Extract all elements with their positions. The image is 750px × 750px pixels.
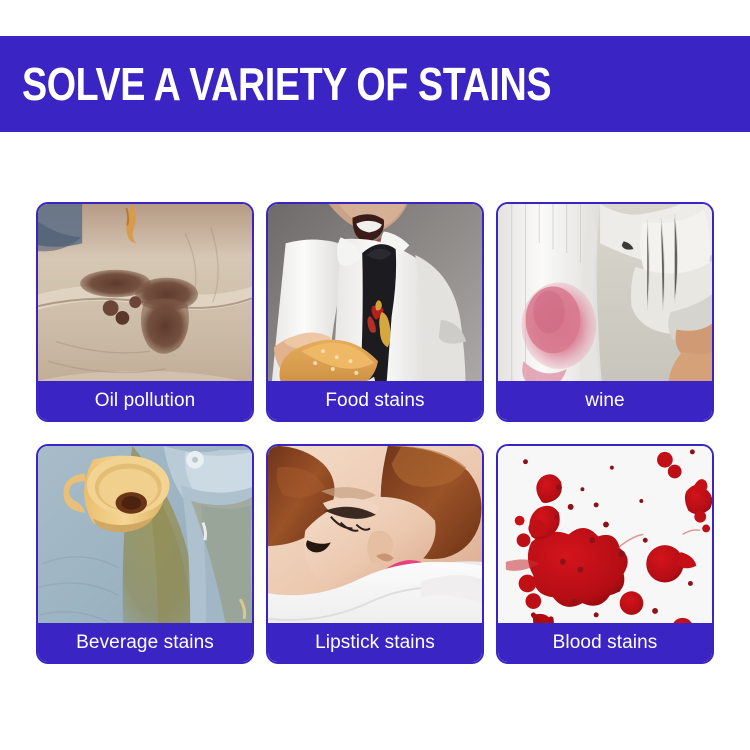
tile-label-beverage-stains: Beverage stains: [37, 623, 253, 663]
tile-label-wine: wine: [497, 381, 713, 421]
tile-beverage-stains[interactable]: Beverage stains: [36, 444, 254, 664]
tile-label-oil-pollution: Oil pollution: [37, 381, 253, 421]
stain-type-grid: Oil pollution: [36, 202, 714, 664]
tile-wine[interactable]: wine: [496, 202, 714, 422]
tile-oil-pollution[interactable]: Oil pollution: [36, 202, 254, 422]
tile-label-lipstick-stains: Lipstick stains: [267, 623, 483, 663]
tile-blood-stains[interactable]: Blood stains: [496, 444, 714, 664]
tile-label-food-stains: Food stains: [267, 381, 483, 421]
tile-food-stains[interactable]: Food stains: [266, 202, 484, 422]
page-title: SOLVE A VARIETY OF STAINS: [22, 57, 551, 111]
header-banner: SOLVE A VARIETY OF STAINS: [0, 36, 750, 132]
tile-label-blood-stains: Blood stains: [497, 623, 713, 663]
tile-lipstick-stains[interactable]: Lipstick stains: [266, 444, 484, 664]
